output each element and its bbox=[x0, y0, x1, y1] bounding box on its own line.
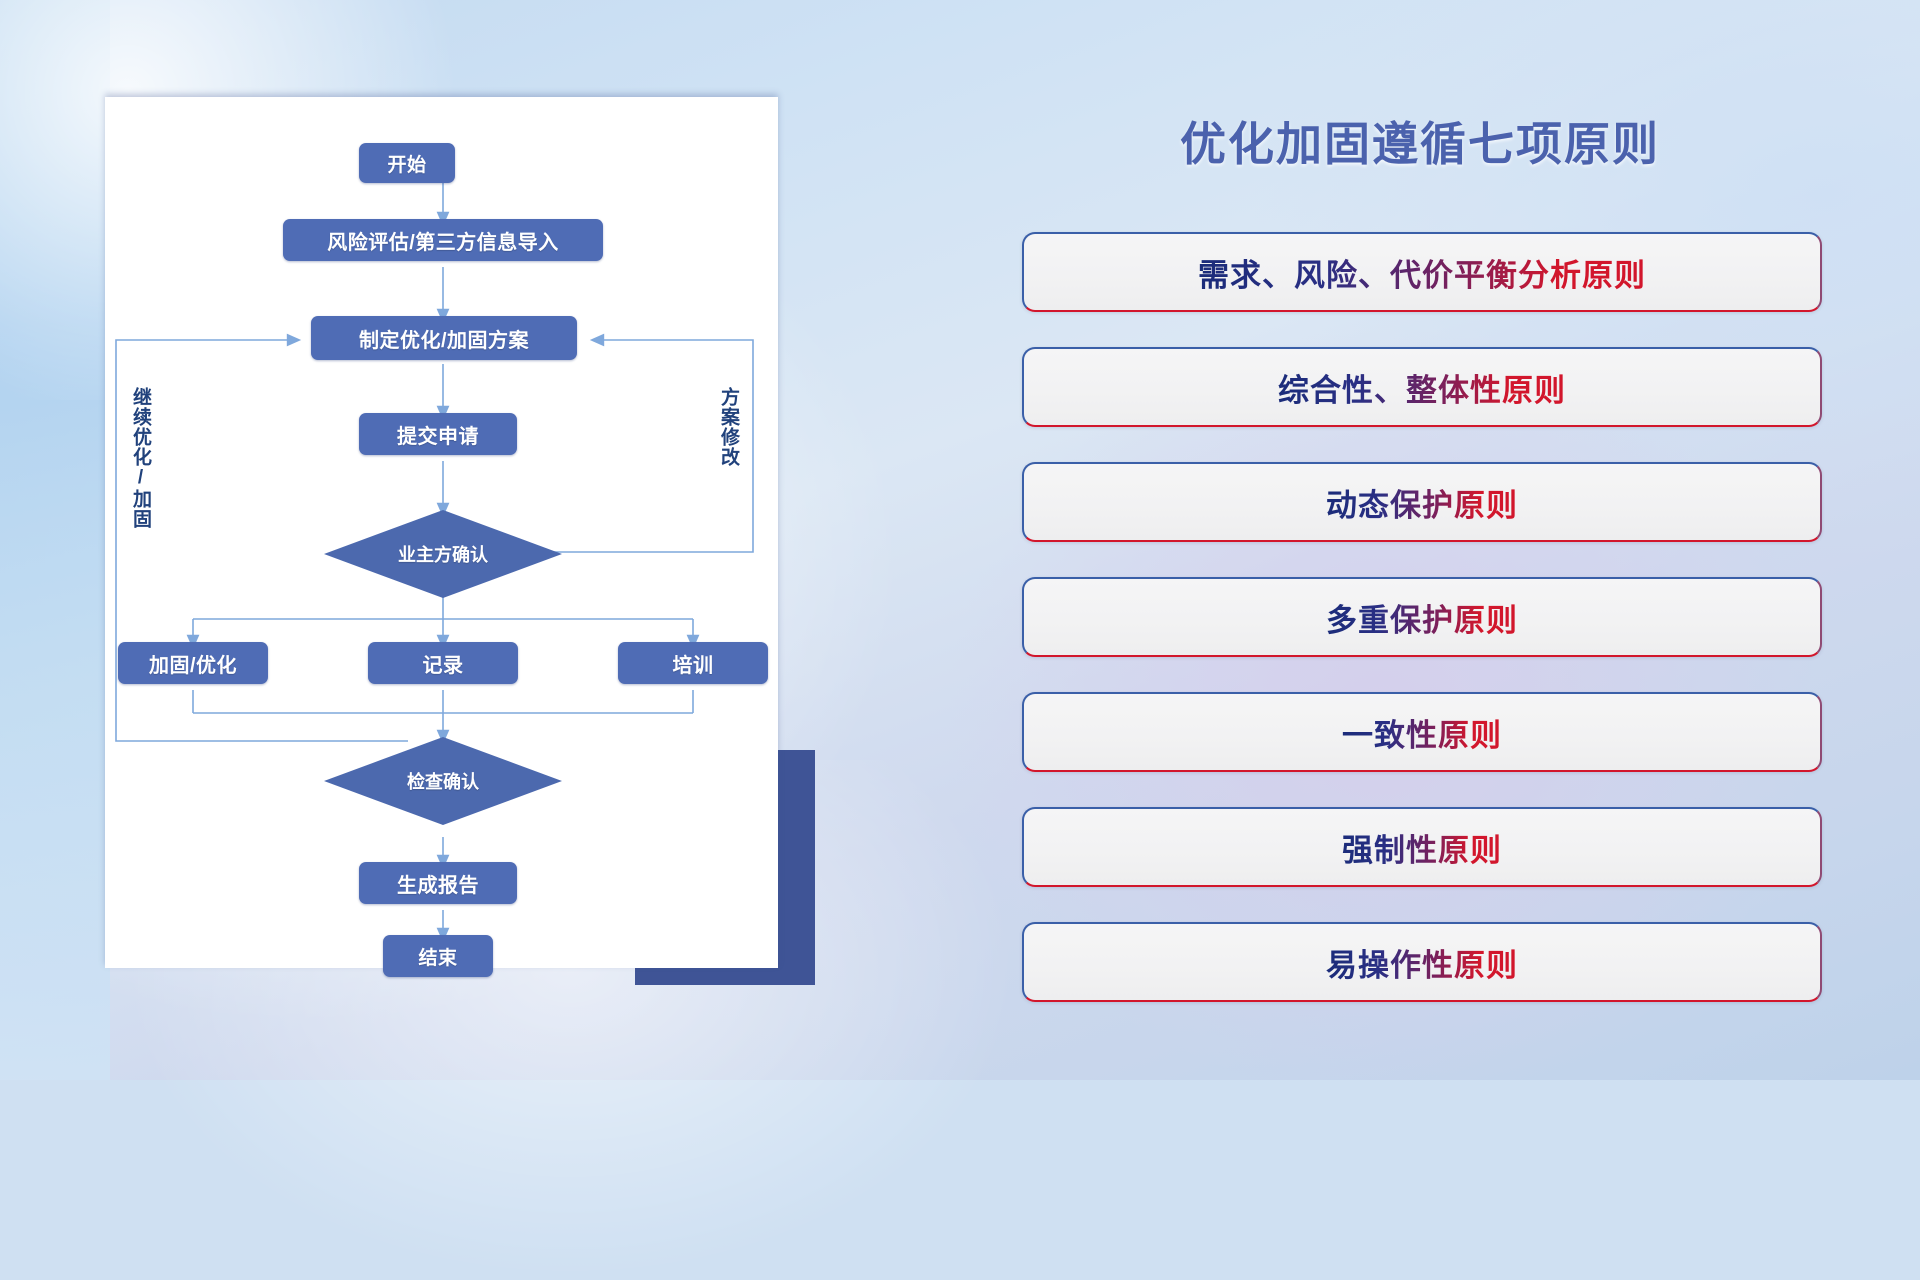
flow-node-training[interactable]: 培训 bbox=[618, 642, 768, 684]
flow-node-record[interactable]: 记录 bbox=[368, 642, 518, 684]
principle-label: 强制性原则 bbox=[1342, 825, 1502, 870]
flow-node-submit-application[interactable]: 提交申请 bbox=[359, 413, 517, 455]
principles-list: 需求、风险、代价平衡分析原则 综合性、整体性原则 动态保护原则 多重保护原则 一… bbox=[1022, 232, 1822, 1037]
principle-item-1[interactable]: 需求、风险、代价平衡分析原则 bbox=[1022, 232, 1822, 312]
principle-label: 需求、风险、代价平衡分析原则 bbox=[1198, 250, 1646, 295]
flow-node-generate-report[interactable]: 生成报告 bbox=[359, 862, 517, 904]
principle-item-2[interactable]: 综合性、整体性原则 bbox=[1022, 347, 1822, 427]
principle-item-6[interactable]: 强制性原则 bbox=[1022, 807, 1822, 887]
principle-item-4[interactable]: 多重保护原则 bbox=[1022, 577, 1822, 657]
principle-item-7[interactable]: 易操作性原则 bbox=[1022, 922, 1822, 1002]
flow-node-plan[interactable]: 制定优化/加固方案 bbox=[311, 316, 577, 360]
flow-node-start[interactable]: 开始 bbox=[359, 143, 455, 183]
principle-label: 一致性原则 bbox=[1342, 710, 1502, 755]
flowchart: 开始 风险评估/第三方信息导入 制定优化/加固方案 提交申请 业主方确认 加固/… bbox=[105, 97, 778, 968]
flow-node-reinforce[interactable]: 加固/优化 bbox=[118, 642, 268, 684]
page-title: 优化加固遵循七项原则 bbox=[1140, 108, 1700, 174]
principle-label: 多重保护原则 bbox=[1326, 595, 1518, 640]
principle-item-3[interactable]: 动态保护原则 bbox=[1022, 462, 1822, 542]
flow-edge-label-continue-optimize: 继续优化/加固 bbox=[127, 387, 154, 529]
principle-label: 综合性、整体性原则 bbox=[1278, 365, 1566, 410]
flowchart-card: 开始 风险评估/第三方信息导入 制定优化/加固方案 提交申请 业主方确认 加固/… bbox=[105, 97, 778, 968]
principle-label: 易操作性原则 bbox=[1326, 940, 1518, 985]
flow-node-end[interactable]: 结束 bbox=[383, 935, 493, 977]
flow-node-risk-assessment[interactable]: 风险评估/第三方信息导入 bbox=[283, 219, 603, 261]
principle-item-5[interactable]: 一致性原则 bbox=[1022, 692, 1822, 772]
principle-label: 动态保护原则 bbox=[1326, 480, 1518, 525]
flow-edge-label-plan-revise: 方案修改 bbox=[715, 387, 742, 467]
